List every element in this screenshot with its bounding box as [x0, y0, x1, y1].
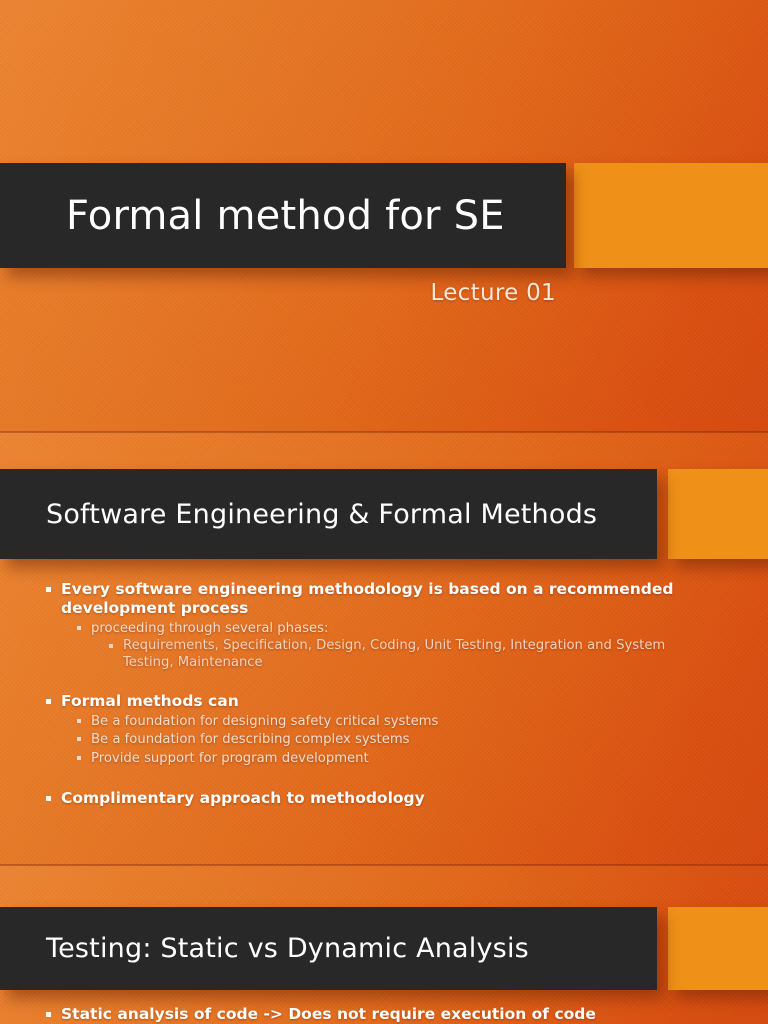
slide-3-title: Testing: Static vs Dynamic Analysis [46, 935, 529, 962]
bullet-text: Provide support for program development [91, 750, 704, 768]
bullet-item: Formal methods can [44, 692, 704, 711]
slide-1-title-band: Formal method for SE [0, 163, 566, 268]
bullet-spacer [44, 671, 704, 692]
bullet-spacer [44, 768, 704, 789]
bullet-item: proceeding through several phases: [75, 620, 704, 638]
slide-2-accent-block [668, 469, 768, 559]
slide-2: Software Engineering & Formal Methods Ev… [0, 432, 768, 865]
bullet-item: Be a foundation for designing safety cri… [75, 713, 704, 731]
bullet-item: Be a foundation for describing complex s… [75, 731, 704, 749]
slide-3-title-band: Testing: Static vs Dynamic Analysis [0, 907, 657, 990]
slide-1: Formal method for SE Lecture 01 [0, 0, 768, 432]
slide-1-title: Formal method for SE [66, 196, 505, 236]
slide-3-bullet-list: Static analysis of code -> Does not requ… [44, 1005, 704, 1024]
bullet-item: Requirements, Specification, Design, Cod… [108, 638, 704, 671]
slide-2-bullet-list: Every software engineering methodology i… [44, 580, 704, 808]
slide-3: Testing: Static vs Dynamic Analysis Stat… [0, 865, 768, 1024]
bullet-text: Every software engineering methodology i… [61, 580, 704, 618]
slide-2-title: Software Engineering & Formal Methods [46, 501, 597, 528]
slide-1-accent-block [574, 163, 768, 268]
slide-1-subtitle: Lecture 01 [0, 280, 556, 306]
slide-3-body: Static analysis of code -> Does not requ… [44, 1005, 704, 1024]
bullet-text: Requirements, Specification, Design, Cod… [123, 638, 704, 671]
bullet-text: Formal methods can [61, 692, 704, 711]
bullet-text: Static analysis of code -> Does not requ… [61, 1005, 704, 1024]
bullet-text: Complimentary approach to methodology [61, 789, 704, 808]
bullet-item: Provide support for program development [75, 750, 704, 768]
bullet-item: Complimentary approach to methodology [44, 789, 704, 808]
bullet-item: Every software engineering methodology i… [44, 580, 704, 618]
slide-deck-viewer: Formal method for SE Lecture 01 Software… [0, 0, 768, 1024]
bullet-text: Be a foundation for describing complex s… [91, 731, 704, 749]
bullet-item: Static analysis of code -> Does not requ… [44, 1005, 704, 1024]
slide-divider-1 [0, 431, 768, 433]
bullet-text: proceeding through several phases: [91, 620, 704, 638]
bullet-text: Be a foundation for designing safety cri… [91, 713, 704, 731]
slide-2-body: Every software engineering methodology i… [44, 580, 704, 810]
slide-3-accent-block [668, 907, 768, 990]
slide-divider-2 [0, 864, 768, 866]
slide-2-title-band: Software Engineering & Formal Methods [0, 469, 657, 559]
